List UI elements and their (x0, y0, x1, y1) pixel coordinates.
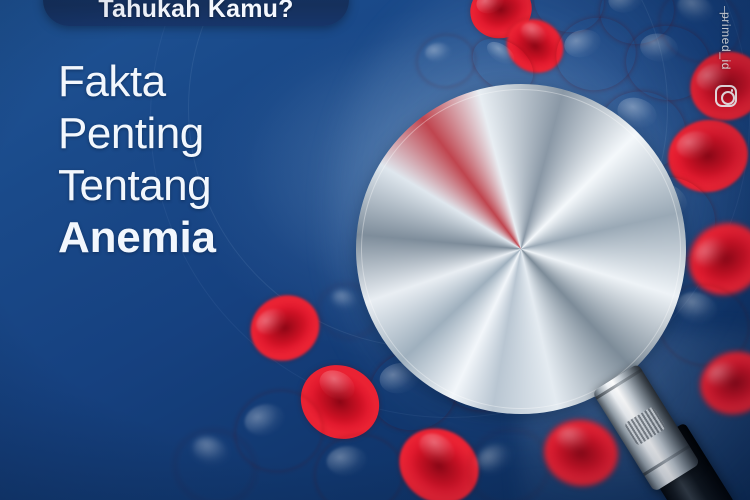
page-title: Fakta Penting Tentang Anemia (58, 56, 328, 264)
headline-line-4: Anemia (58, 212, 328, 264)
headline-line-3: Tentang (58, 160, 328, 212)
magnifier-handle-knurl (624, 406, 667, 446)
blood-cell (239, 283, 331, 372)
instagram-icon[interactable] (715, 85, 737, 107)
blood-cell (312, 432, 405, 500)
anemia-infographic-poster: Tahukah Kamu? Fakta Penting Tentang Anem… (0, 0, 750, 500)
blood-cell (460, 420, 559, 500)
badge-label: Tahukah Kamu? (98, 0, 293, 26)
did-you-know-badge: Tahukah Kamu? (43, 0, 349, 26)
watermark-handle: primed_id (719, 0, 733, 89)
watermark[interactable]: primed_id (704, 4, 748, 119)
blood-cell (416, 33, 477, 89)
headline-line-1: Fakta (58, 56, 328, 108)
blood-cell (539, 414, 623, 492)
headline-line-2: Penting (58, 108, 328, 160)
